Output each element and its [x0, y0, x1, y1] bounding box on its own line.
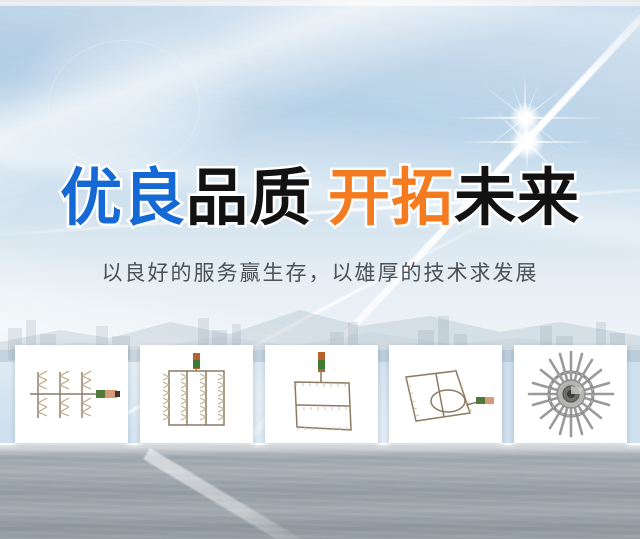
product-card[interactable]: [140, 345, 253, 443]
product-card-list: [15, 345, 627, 443]
ring-frame-icon: [396, 357, 496, 431]
headline-part-4: 未来: [454, 161, 580, 234]
ground-texture: [0, 444, 640, 539]
product-card[interactable]: [15, 345, 128, 443]
page-title: 优良品质开拓未来: [0, 163, 640, 233]
radial-star-icon: [525, 348, 617, 440]
comb-rake-icon: [22, 354, 122, 434]
headline-part-2: 品质: [186, 161, 312, 234]
product-card[interactable]: [265, 345, 378, 443]
product-card[interactable]: [514, 345, 627, 443]
ground-shine: [0, 444, 640, 458]
flat-panel-icon: [279, 350, 363, 438]
promo-banner: 优良品质开拓未来 以良好的服务赢生存，以雄厚的技术求发展: [0, 0, 640, 539]
headline-part-1: 优良: [60, 161, 186, 234]
headline-part-3: 开拓: [328, 161, 454, 234]
top-edge-strip: [0, 0, 640, 6]
product-card[interactable]: [389, 345, 502, 443]
left-glow-ring: [48, 40, 200, 172]
dense-brush-icon: [151, 351, 241, 437]
page-subtitle: 以良好的服务赢生存，以雄厚的技术求发展: [0, 258, 640, 288]
